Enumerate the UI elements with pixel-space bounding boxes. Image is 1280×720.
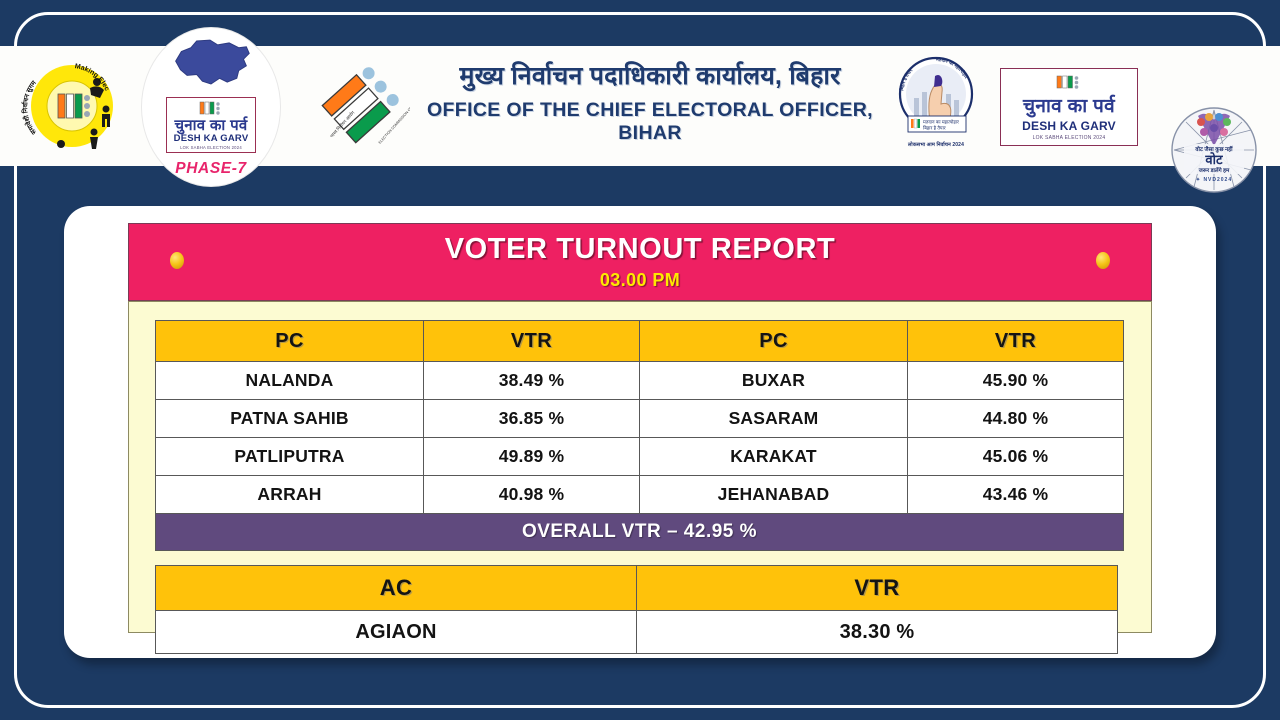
ac-vtr-table: AC VTR AGIAON 38.30 %: [155, 565, 1118, 654]
pc-name-cell: KARAKAT: [640, 438, 908, 476]
desh-ka-garv-badge-box: चुनाव का पर्व DESH KA GARV LOK SABHA ELE…: [166, 97, 257, 153]
pc-vtr-cell: 45.06 %: [908, 438, 1124, 476]
phase-badge-english-text: DESH KA GARV: [174, 134, 249, 144]
table-row: PATNA SAHIB 36.85 % SASARAM 44.80 %: [156, 400, 1124, 438]
eci-mini-icon-2: [1055, 74, 1083, 90]
bihar-map-icon: [168, 36, 254, 95]
tables-panel: PC VTR PC VTR NALANDA 38.49 % BUXAR 45.9…: [128, 301, 1152, 633]
pc-name-cell: PATNA SAHIB: [156, 400, 424, 438]
pc-name-cell: ARRAH: [156, 476, 424, 514]
pc-table-header-row: PC VTR PC VTR: [156, 321, 1124, 362]
header-title-hindi: मुख्य निर्वाचन पदाधिकारी कार्यालय, बिहार: [420, 62, 880, 91]
phase-number-label: PHASE-7: [175, 160, 246, 178]
report-card: VOTER TURNOUT REPORT 03.00 PM PC VTR PC …: [64, 206, 1216, 658]
inked-finger-emblem-icon: मतदान का महात्योहार बिहार है तैयार मतदान…: [890, 54, 982, 158]
eci-mini-icon: [174, 100, 249, 116]
phase-badge-logo: चुनाव का पर्व DESH KA GARV LOK SABHA ELE…: [142, 28, 280, 186]
svg-text:वोट: वोट: [1204, 152, 1223, 167]
national-voters-day-icon: वोट जैसा कुछ नहीं वोट जरूर डालेंगे हम ✦ …: [1168, 104, 1260, 196]
table-row: NALANDA 38.49 % BUXAR 45.90 %: [156, 362, 1124, 400]
desh-ka-garv-logo: चुनाव का पर्व DESH KA GARV LOK SABHA ELE…: [1000, 68, 1138, 146]
pc-vtr-cell: 49.89 %: [424, 438, 640, 476]
pc-vtr-cell: 45.90 %: [908, 362, 1124, 400]
ac-table-header-vtr: VTR: [637, 566, 1118, 611]
pc-name-cell: PATLIPUTRA: [156, 438, 424, 476]
svg-text:बिहार है तैयार: बिहार है तैयार: [923, 125, 946, 131]
pc-name-cell: NALANDA: [156, 362, 424, 400]
pc-table-header-vtr-2: VTR: [908, 321, 1124, 362]
pc-vtr-table: PC VTR PC VTR NALANDA 38.49 % BUXAR 45.9…: [155, 320, 1124, 551]
table-row: PATLIPUTRA 49.89 % KARAKAT 45.06 %: [156, 438, 1124, 476]
pc-vtr-cell: 38.49 %: [424, 362, 640, 400]
pc-name-cell: SASARAM: [640, 400, 908, 438]
phase-badge-hindi-text: चुनाव का पर्व: [174, 118, 249, 133]
pc-vtr-cell: 43.46 %: [908, 476, 1124, 514]
ac-name-cell: AGIAON: [156, 611, 637, 654]
pc-table-header-pc-2: PC: [640, 321, 908, 362]
banner-dot-left-icon: [170, 252, 184, 269]
desh-ka-garv-hindi: चुनाव का पर्व: [1023, 92, 1115, 118]
pc-name-cell: BUXAR: [640, 362, 908, 400]
header-band: Making Elections Accessible समावेशी निर्…: [0, 46, 1280, 166]
inked-finger-caption: लोकसभा आम निर्वाचन 2024: [890, 142, 982, 148]
ac-table-header-row: AC VTR: [156, 566, 1118, 611]
report-title-banner: VOTER TURNOUT REPORT 03.00 PM: [128, 223, 1152, 301]
overall-vtr-value: OVERALL VTR – 42.95 %: [156, 514, 1124, 551]
pc-table-header-vtr-1: VTR: [424, 321, 640, 362]
header-title-block: मुख्य निर्वाचन पदाधिकारी कार्यालय, बिहार…: [420, 62, 880, 145]
page-root: Making Elections Accessible समावेशी निर्…: [0, 0, 1280, 720]
pc-vtr-cell: 36.85 %: [424, 400, 640, 438]
ac-table-header-ac: AC: [156, 566, 637, 611]
pc-vtr-cell: 44.80 %: [908, 400, 1124, 438]
overall-vtr-row: OVERALL VTR – 42.95 %: [156, 514, 1124, 551]
election-commission-of-india-icon: भारत निर्वाचन आयोग ELECTION COMMISSION O…: [318, 64, 410, 150]
svg-text:जरूर डालेंगे हम: जरूर डालेंगे हम: [1198, 167, 1230, 174]
table-row: AGIAON 38.30 %: [156, 611, 1118, 654]
header-title-english: OFFICE OF THE CHIEF ELECTORAL OFFICER, B…: [420, 99, 880, 145]
making-elections-accessible-icon: Making Elections Accessible समावेशी निर्…: [18, 52, 126, 160]
pc-vtr-cell: 40.98 %: [424, 476, 640, 514]
phase-badge-subtitle: LOK SABHA ELECTION 2024: [174, 146, 249, 150]
pc-table-header-pc-1: PC: [156, 321, 424, 362]
header-inner: Making Elections Accessible समावेशी निर्…: [0, 46, 1280, 166]
ac-vtr-cell: 38.30 %: [637, 611, 1118, 654]
report-time: 03.00 PM: [600, 271, 680, 289]
svg-text:मतदान का महात्योहार: मतदान का महात्योहार: [923, 119, 959, 125]
report-title: VOTER TURNOUT REPORT: [445, 235, 836, 264]
svg-text:✦ NVD2024: ✦ NVD2024: [1196, 177, 1232, 183]
desh-ka-garv-subtitle: LOK SABHA ELECTION 2024: [1033, 135, 1106, 141]
table-row: ARRAH 40.98 % JEHANABAD 43.46 %: [156, 476, 1124, 514]
pc-name-cell: JEHANABAD: [640, 476, 908, 514]
banner-dot-right-icon: [1096, 252, 1110, 269]
desh-ka-garv-english: DESH KA GARV: [1022, 119, 1116, 133]
